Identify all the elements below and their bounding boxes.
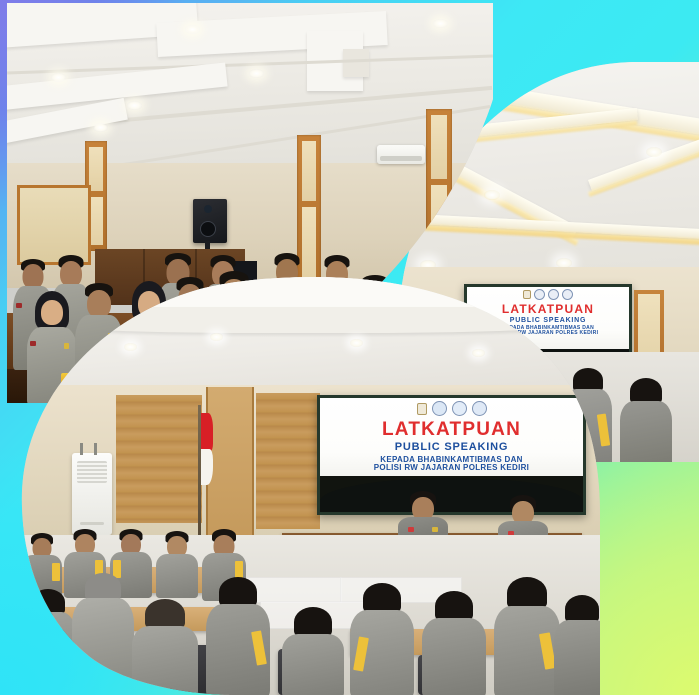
screen-logos [523,289,573,300]
audience-officer [206,577,270,695]
emblem-gold-icon [523,290,531,299]
ceiling-light [185,25,200,34]
ceiling-light [51,73,66,82]
ceiling-light [472,349,485,357]
wood-wall-panel [116,395,202,523]
wood-wall-panel [256,393,320,529]
emblem-gold-icon [417,403,427,415]
screen-logos [417,401,487,416]
ceiling-light [350,339,363,347]
ceiling-light [210,333,223,341]
emblem-polri-icon [432,401,447,416]
collage-root: LATKATPUAN PUBLIC SPEAKING KEPADA BHABIN… [0,0,699,695]
screen-title: LATKATPUAN [502,303,594,315]
audience-officer [422,591,486,695]
wall-panel [17,185,91,265]
ceiling-light [433,19,448,28]
audience-officer [350,583,414,695]
seated-officer [156,531,198,597]
wall-speaker [193,199,227,243]
audience-officer [282,607,344,695]
wood-column [206,387,254,539]
emblem-star-icon [472,401,487,416]
ceiling-light [484,190,500,200]
ceiling-light [127,101,142,110]
emblem-star-icon [562,289,573,300]
audience-officer [132,599,198,695]
photo-panel-briefing-room: LATKATPUAN PUBLIC SPEAKING KEPADA BHABIN… [20,277,600,695]
ceiling-light [124,343,137,351]
ceiling-light [646,147,662,157]
air-conditioner [377,145,425,164]
emblem-shield-icon [548,289,559,300]
screen-line4: POLISI RW JAJARAN POLRES KEDIRI [374,464,529,472]
seated-officer [620,378,672,462]
audience-officer [554,595,600,695]
air-conditioner [72,453,112,535]
screen-title: LATKATPUAN [382,420,521,439]
screen-subtitle: PUBLIC SPEAKING [510,317,587,324]
emblem-shield-icon [452,401,467,416]
ceiling-light [249,69,264,78]
ceiling-light [93,123,108,132]
audience-officer [494,577,560,695]
emblem-polri-icon [534,289,545,300]
screen-subtitle: PUBLIC SPEAKING [395,442,508,453]
